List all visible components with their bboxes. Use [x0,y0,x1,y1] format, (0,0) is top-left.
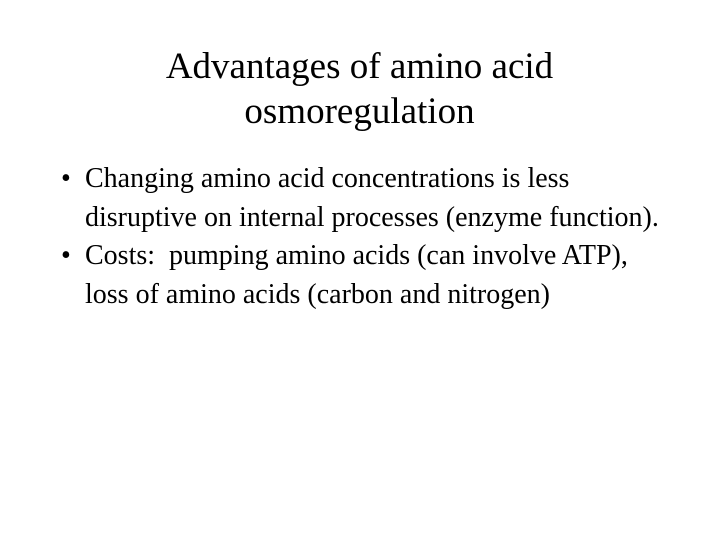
list-item-text: Costs: pumping amino acids (can involve … [85,237,666,314]
bullet-list: • Changing amino acid concentrations is … [56,160,666,314]
bullet-dot-icon: • [61,160,79,199]
list-item: • Costs: pumping amino acids (can involv… [56,237,666,314]
slide-canvas: Advantages of amino acid osmoregulation … [0,0,719,539]
page-title: Advantages of amino acid osmoregulation [0,44,719,134]
page-title-line-1: Advantages of amino acid [0,44,719,89]
bullet-dot-icon: • [61,237,79,276]
list-item-text: Changing amino acid concentrations is le… [85,160,666,237]
page-title-line-2: osmoregulation [0,89,719,134]
list-item: • Changing amino acid concentrations is … [56,160,666,237]
